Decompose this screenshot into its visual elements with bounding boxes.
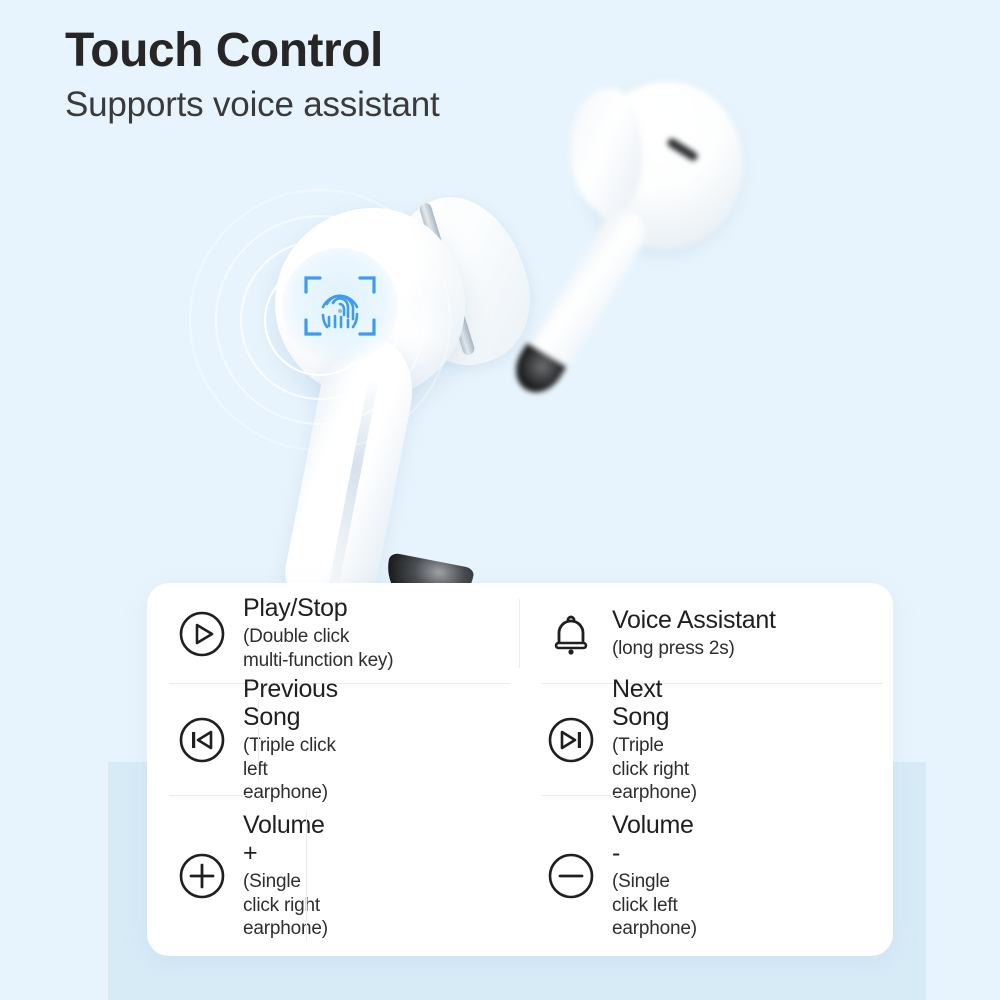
feature-text: Volume + (Single click right earphone) (243, 811, 328, 941)
feature-description: (long press 2s) (612, 637, 776, 661)
feature-text: Voice Assistant (long press 2s) (612, 606, 776, 661)
fingerprint-icon (292, 258, 388, 354)
feature-title: Volume + (243, 811, 328, 867)
play-circle-icon (173, 605, 231, 663)
feature-item-next-song[interactable]: Next Song (Triple click right earphone) (520, 684, 632, 796)
feature-item-play-stop[interactable]: Play/Stop (Double click multi-function k… (147, 583, 520, 684)
feature-item-volume-down[interactable]: Volume - (Single click left earphone) (520, 796, 680, 956)
fingerprint-core (338, 309, 342, 313)
feature-item-previous-song[interactable]: Previous Song (Triple click left earphon… (147, 684, 259, 796)
feature-text: Volume - (Single click left earphone) (612, 811, 697, 941)
feature-item-voice-assistant[interactable]: Voice Assistant (long press 2s) (520, 583, 893, 684)
page-subtitle: Supports voice assistant (65, 86, 440, 125)
feature-title: Previous Song (243, 675, 338, 731)
feature-title: Next Song (612, 675, 697, 731)
page-title: Touch Control (65, 26, 440, 76)
feature-description: (Double click multi-function key) (243, 625, 393, 673)
feature-title: Play/Stop (243, 594, 393, 622)
feature-description: (Triple click right earphone) (612, 734, 697, 805)
feature-item-volume-up[interactable]: Volume + (Single click right earphone) (147, 796, 307, 956)
previous-track-circle-icon (173, 711, 231, 769)
bell-icon (542, 605, 600, 663)
feature-description: (Single click left earphone) (612, 870, 697, 941)
feature-title: Voice Assistant (612, 606, 776, 634)
feature-text: Play/Stop (Double click multi-function k… (243, 594, 393, 673)
touch-sensor-area[interactable] (282, 248, 398, 364)
next-track-circle-icon (542, 711, 600, 769)
touch-control-feature-card: Play/Stop (Double click multi-function k… (147, 583, 893, 956)
feature-text: Next Song (Triple click right earphone) (612, 675, 697, 805)
feature-description: (Triple click left earphone) (243, 734, 338, 805)
minus-circle-icon (542, 847, 600, 905)
feature-title: Volume - (612, 811, 697, 867)
heading-group: Touch Control Supports voice assistant (65, 26, 440, 125)
earbud-eartip (569, 88, 645, 216)
feature-description: (Single click right earphone) (243, 870, 328, 941)
right-earbud (499, 59, 780, 457)
feature-text: Previous Song (Triple click left earphon… (243, 675, 338, 805)
plus-circle-icon (173, 847, 231, 905)
